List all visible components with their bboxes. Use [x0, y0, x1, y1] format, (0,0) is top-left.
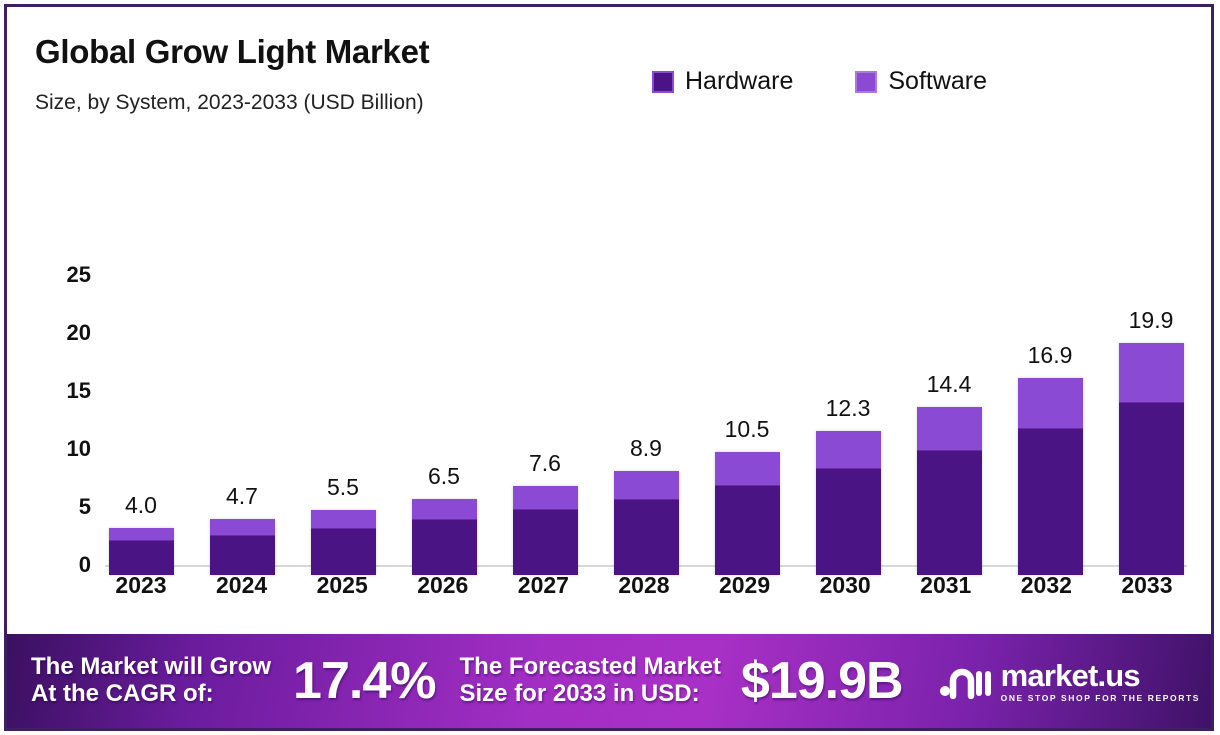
y-axis: 0510152025 [31, 135, 99, 575]
legend-swatch-software-icon [855, 71, 877, 93]
bar-segment-software[interactable] [1119, 343, 1184, 402]
bar-segment-software[interactable] [715, 452, 780, 484]
bar-segment-hardware[interactable] [210, 535, 275, 575]
bar-column[interactable]: 14.4 [913, 135, 985, 575]
bar-value-label: 19.9 [1129, 307, 1174, 334]
bar-stack[interactable] [715, 452, 780, 575]
bar-stack[interactable] [210, 519, 275, 575]
bar-column[interactable]: 8.9 [610, 135, 682, 575]
logo-name: market.us [1001, 660, 1200, 691]
plot-area: 0510152025 4.04.75.56.57.68.910.512.314.… [31, 135, 1191, 575]
bar-column[interactable]: 10.5 [711, 135, 783, 575]
bar-segment-hardware[interactable] [1018, 428, 1083, 575]
bar-segment-hardware[interactable] [109, 540, 174, 575]
bar-group: 4.04.75.56.57.68.910.512.314.416.919.9 [105, 135, 1187, 575]
y-tick-5: 5 [79, 494, 91, 520]
bar-column[interactable]: 4.0 [105, 135, 177, 575]
bar-stack[interactable] [311, 510, 376, 575]
chart-legend: Hardware Software [652, 67, 987, 96]
bar-segment-hardware[interactable] [311, 528, 376, 575]
bar-segment-hardware[interactable] [917, 450, 982, 575]
bar-stack[interactable] [614, 471, 679, 575]
bar-stack[interactable] [1018, 378, 1083, 575]
bar-value-label: 8.9 [630, 435, 662, 462]
bar-column[interactable]: 16.9 [1014, 135, 1086, 575]
bar-segment-software[interactable] [1018, 378, 1083, 428]
bar-stack[interactable] [412, 499, 477, 575]
bar-segment-hardware[interactable] [412, 519, 477, 575]
x-axis-label: 2024 [206, 572, 278, 599]
cagr-label-line2: At the CAGR of: [31, 680, 214, 707]
market-us-logo[interactable]: market.us ONE STOP SHOP FOR THE REPORTS [939, 660, 1200, 703]
forecast-label-line2: Size for 2033 in USD: [460, 680, 700, 707]
bar-value-label: 16.9 [1028, 342, 1073, 369]
cagr-label-line1: The Market will Grow [31, 653, 271, 680]
cagr-label: The Market will Grow At the CAGR of: [31, 654, 271, 708]
chart-subtitle: Size, by System, 2023-2033 (USD Billion) [35, 91, 424, 115]
x-axis-label: 2033 [1111, 572, 1183, 599]
bar-column[interactable]: 4.7 [206, 135, 278, 575]
summary-banner: The Market will Grow At the CAGR of: 17.… [7, 634, 1211, 728]
bar-column[interactable]: 7.6 [509, 135, 581, 575]
bar-value-label: 14.4 [927, 371, 972, 398]
x-axis-label: 2023 [105, 572, 177, 599]
bar-segment-software[interactable] [311, 510, 376, 527]
bar-stack[interactable] [816, 431, 881, 575]
y-tick-0: 0 [79, 552, 91, 578]
x-axis-label: 2028 [608, 572, 680, 599]
x-axis-label: 2030 [809, 572, 881, 599]
forecast-label: The Forecasted Market Size for 2033 in U… [460, 654, 721, 708]
x-axis-label: 2027 [507, 572, 579, 599]
x-axis-labels: 2023202420252026202720282029203020312032… [105, 572, 1183, 599]
forecast-label-line1: The Forecasted Market [460, 653, 721, 680]
bar-segment-hardware[interactable] [715, 485, 780, 575]
bar-value-label: 12.3 [826, 395, 871, 422]
legend-label-hardware: Hardware [685, 67, 793, 96]
y-tick-15: 15 [67, 378, 91, 404]
legend-swatch-hardware-icon [652, 71, 674, 93]
bar-segment-hardware[interactable] [816, 468, 881, 575]
bar-value-label: 10.5 [725, 416, 770, 443]
bar-segment-software[interactable] [109, 528, 174, 541]
bar-segment-hardware[interactable] [513, 509, 578, 575]
y-tick-25: 25 [67, 262, 91, 288]
x-axis-label: 2031 [910, 572, 982, 599]
x-axis-label: 2032 [1010, 572, 1082, 599]
bar-value-label: 5.5 [327, 474, 359, 501]
bar-segment-hardware[interactable] [1119, 402, 1184, 575]
page-title: Global Grow Light Market [35, 33, 429, 71]
y-tick-20: 20 [67, 320, 91, 346]
bar-segment-software[interactable] [513, 486, 578, 509]
market-us-logo-mark-icon [939, 663, 991, 699]
bar-segment-software[interactable] [412, 499, 477, 520]
cagr-value: 17.4% [293, 652, 435, 710]
bar-column[interactable]: 6.5 [408, 135, 480, 575]
bar-stack[interactable] [1119, 343, 1184, 575]
bar-value-label: 4.7 [226, 483, 258, 510]
bar-value-label: 6.5 [428, 463, 460, 490]
bar-column[interactable]: 19.9 [1115, 135, 1187, 575]
bar-segment-software[interactable] [614, 471, 679, 499]
bar-value-label: 4.0 [125, 492, 157, 519]
market-us-logo-text: market.us ONE STOP SHOP FOR THE REPORTS [1001, 660, 1200, 703]
chart-frame: Global Grow Light Market Size, by System… [4, 4, 1214, 731]
x-axis-label: 2026 [407, 572, 479, 599]
x-axis-label: 2029 [709, 572, 781, 599]
legend-item-hardware[interactable]: Hardware [652, 67, 793, 96]
bar-segment-software[interactable] [210, 519, 275, 534]
bar-segment-software[interactable] [816, 431, 881, 468]
bar-value-label: 7.6 [529, 450, 561, 477]
legend-label-software: Software [888, 67, 987, 96]
bar-column[interactable]: 12.3 [812, 135, 884, 575]
bar-segment-software[interactable] [917, 407, 982, 450]
logo-tagline: ONE STOP SHOP FOR THE REPORTS [1001, 694, 1200, 703]
y-tick-10: 10 [67, 436, 91, 462]
bar-stack[interactable] [513, 486, 578, 575]
bar-segment-hardware[interactable] [614, 499, 679, 575]
legend-item-software[interactable]: Software [855, 67, 987, 96]
forecast-value: $19.9B [741, 652, 903, 710]
bar-column[interactable]: 5.5 [307, 135, 379, 575]
x-axis-label: 2025 [306, 572, 378, 599]
bar-stack[interactable] [917, 407, 982, 575]
bar-stack[interactable] [109, 528, 174, 575]
